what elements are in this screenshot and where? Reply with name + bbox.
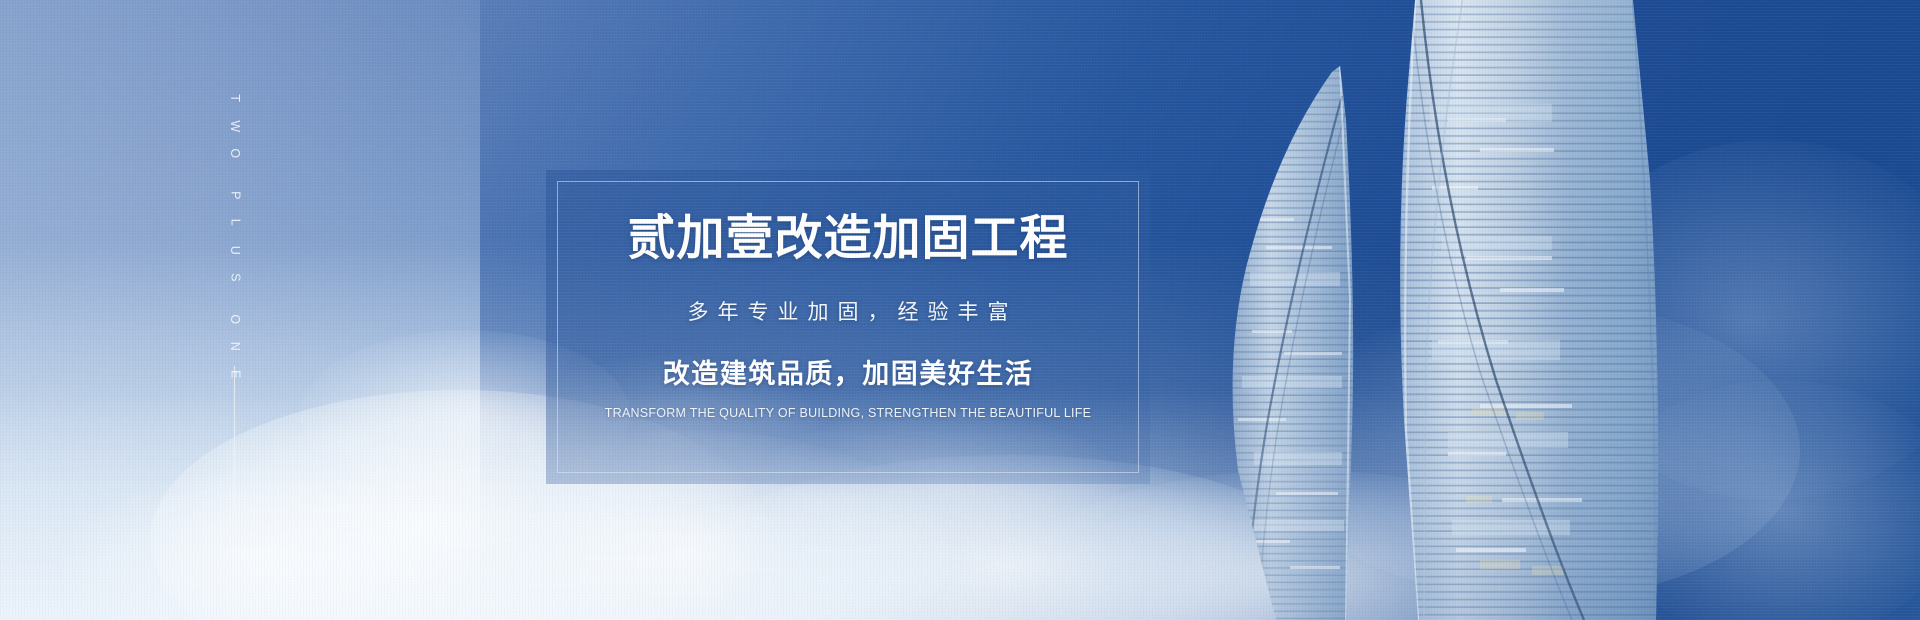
brand-letter: L (229, 219, 242, 226)
brand-letter: S (229, 273, 242, 281)
brand-letter: U (229, 245, 242, 254)
brand-letter: T (229, 94, 242, 102)
panel-slogan: 改造建筑品质，加固美好生活 (663, 352, 1034, 391)
bottom-haze (0, 390, 1920, 620)
vertical-brand-text: T W O P L U S O N E (226, 92, 244, 395)
brand-letter: W (229, 120, 242, 132)
panel-title: 贰加壹改造加固工程 (627, 214, 1068, 264)
brand-letter: E (229, 370, 242, 378)
brand-letter: O (229, 314, 242, 324)
brand-letter: N (229, 342, 242, 351)
panel-subtitle: 多年专业加固，经验丰富 (679, 296, 1018, 326)
brand-letter: P (229, 191, 242, 199)
banner-stage: T W O P L U S O N E 三 贰加壹改造加固工程 多年专业加固，经… (0, 0, 1920, 620)
brand-letter: O (229, 148, 242, 158)
